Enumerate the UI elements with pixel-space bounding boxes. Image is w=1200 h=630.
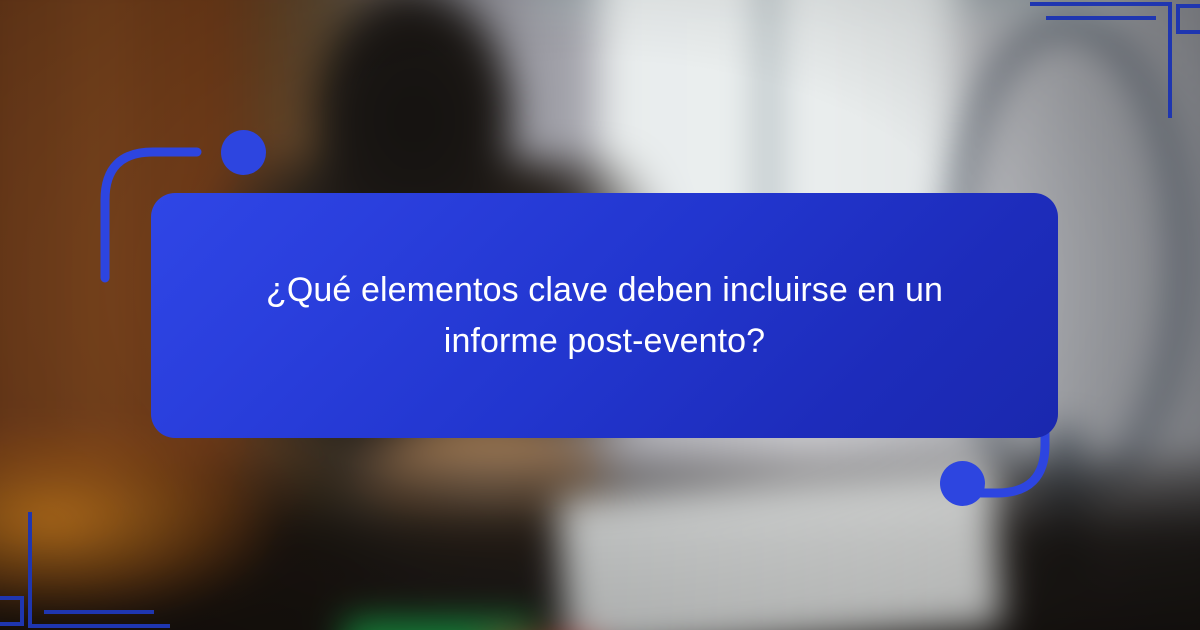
circuit-trace-bottom-left-icon [0, 510, 180, 630]
accent-dot-top-left-icon [221, 130, 266, 175]
quote-question-text: ¿Qué elementos clave deben incluirse en … [220, 265, 990, 366]
social-quote-card: ¿Qué elementos clave deben incluirse en … [0, 0, 1200, 630]
quote-card: ¿Qué elementos clave deben incluirse en … [151, 193, 1058, 438]
circuit-trace-top-right-icon [1020, 0, 1200, 120]
accent-dot-bottom-right-icon [940, 461, 985, 506]
